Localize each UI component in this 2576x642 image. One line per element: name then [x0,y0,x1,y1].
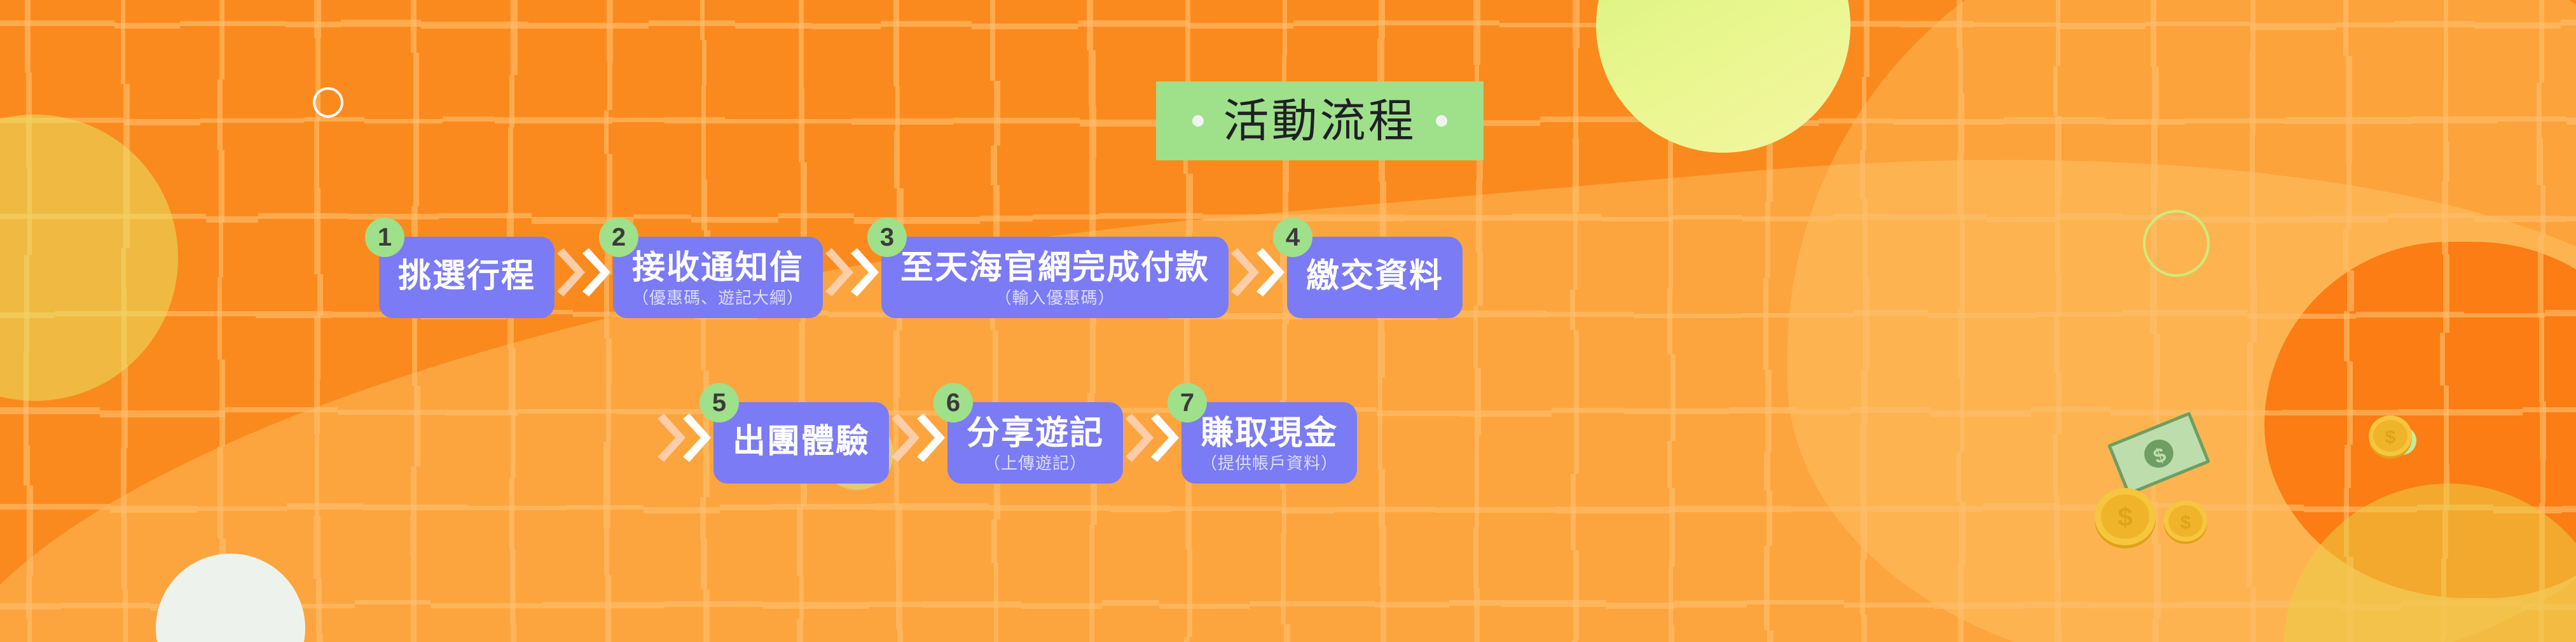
gold-coin-icon: $ [2367,412,2414,459]
gold-coin-icon: $ [2162,498,2209,545]
flow-step-5[interactable]: 5出團體驗 [713,402,889,484]
flow-step-6[interactable]: 6分享遊記（上傳遊記） [947,402,1123,484]
step-number-badge: 1 [365,218,404,257]
flow-chevron-icon [1123,414,1181,495]
decor-circle-yellow-right [2283,484,2576,642]
flow-chevron-icon [655,414,713,495]
banner-dot-left-icon [1192,115,1204,127]
step-title: 挑選行程 [398,258,535,295]
gold-coin-icon: $ [2092,484,2158,550]
step-title: 繳交資料 [1306,258,1443,295]
flow-row-2: 5出團體驗6分享遊記（上傳遊記）7賺取現金（提供帳戶資料） [655,402,1357,495]
dollar-bill-icon: $ [2107,412,2210,496]
decor-ring-white [313,87,343,118]
step-title: 接收通知信 [632,249,804,286]
decor-circle-yellow-left [0,115,178,401]
flow-chevron-icon [554,248,613,330]
flow-chevron-icon [889,414,947,495]
step-title: 分享遊記 [967,415,1104,452]
flow-step-3[interactable]: 3至天海官網完成付款（輸入優惠碼） [881,237,1229,318]
step-number-badge: 3 [867,218,907,257]
step-number-badge: 6 [933,383,973,422]
step-subtitle: （優惠碼、遊記大綱） [632,288,804,308]
step-subtitle: （上傳遊記） [984,454,1087,473]
step-number-badge: 5 [699,383,739,422]
step-subtitle: （提供帳戶資料） [1201,454,1338,473]
decor-circle-lime-top [1596,0,1850,153]
page-title-banner: 活動流程 [1156,81,1484,160]
svg-text:$: $ [2385,427,2396,448]
flow-step-1[interactable]: 1挑選行程 [379,237,554,318]
step-title: 賺取現金 [1201,415,1338,452]
page-title: 活動流程 [1223,98,1416,144]
flow-step-4[interactable]: 4繳交資料 [1287,237,1463,318]
flow-chevron-icon [1229,248,1287,330]
step-title: 至天海官網完成付款 [900,249,1209,286]
background-blob-wave [0,89,2576,642]
step-number-badge: 4 [1273,218,1312,257]
svg-text:$: $ [2150,443,2169,468]
decor-circle-lime-small [2388,426,2416,455]
svg-text:$: $ [2180,512,2191,533]
activity-flow-banner: 活動流程 1挑選行程2接收通知信（優惠碼、遊記大綱）3至天海官網完成付款（輸入優… [0,0,2576,642]
banner-dot-right-icon [1436,115,1447,127]
decor-circle-white-bottom [156,554,305,642]
flow-row-1: 1挑選行程2接收通知信（優惠碼、遊記大綱）3至天海官網完成付款（輸入優惠碼）4繳… [379,237,1463,330]
background-blob-right [1787,0,2576,642]
flow-chevron-icon [823,248,881,330]
background-blob-dark-right [2264,242,2576,598]
flow-step-2[interactable]: 2接收通知信（優惠碼、遊記大綱） [613,237,823,318]
step-subtitle: （輸入優惠碼） [995,288,1115,308]
step-number-badge: 7 [1167,383,1207,422]
svg-text:$: $ [2118,502,2132,532]
step-number-badge: 2 [599,218,638,257]
flow-step-7[interactable]: 7賺取現金（提供帳戶資料） [1181,402,1357,484]
step-title: 出團體驗 [733,423,870,460]
decor-ring-lime [2143,210,2210,277]
